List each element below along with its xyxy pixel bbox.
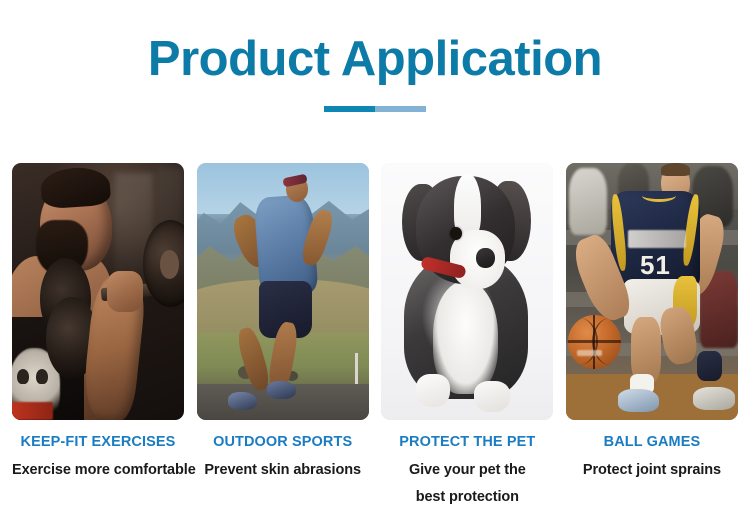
opponent-knee-pad	[697, 351, 723, 382]
player-shoe	[618, 389, 659, 412]
runner-front-shoe	[267, 381, 296, 399]
outdoor-sports-photo[interactable]	[197, 163, 369, 420]
road-post	[355, 353, 358, 386]
jersey-neck-trim	[642, 189, 676, 202]
weight-plate-hole	[160, 250, 179, 278]
skull-eye-left	[17, 369, 29, 384]
title-divider	[324, 106, 426, 112]
application-cards-row: KEEP-FIT EXERCISES Exercise more comfort…	[12, 163, 738, 511]
basketball	[568, 315, 621, 369]
protect-the-pet-caption: PROTECT THE PET Give your pet the best p…	[381, 420, 553, 511]
jersey-team-name	[628, 230, 686, 248]
ball-games-photo[interactable]: 51	[566, 163, 738, 420]
protect-the-pet-photo[interactable]	[381, 163, 553, 420]
card-subtitle: Give your pet the best protection	[392, 457, 542, 511]
card-title: BALL GAMES	[566, 434, 738, 451]
card-subtitle: Exercise more comfortable	[12, 457, 184, 484]
puppy-nose	[476, 248, 495, 269]
opponent-shoe	[693, 387, 734, 410]
puppy-paw-right	[474, 381, 510, 412]
divider-segment-light	[375, 106, 426, 112]
outdoor-sports-caption: OUTDOOR SPORTS Prevent skin abrasions	[197, 420, 369, 484]
card-subtitle: Prevent skin abrasions	[197, 457, 369, 484]
athlete-hair	[40, 166, 111, 209]
ball-games-caption: BALL GAMES Protect joint sprains	[566, 420, 738, 484]
card-subtitle: Protect joint sprains	[566, 457, 738, 484]
puppy-paw-left	[416, 374, 450, 407]
gym-scene-background	[12, 163, 184, 420]
puppy-scene-background	[381, 163, 553, 420]
card-ball-games[interactable]: 51	[566, 163, 738, 511]
page-header: Product Application	[0, 0, 750, 112]
basketball-brand-mark	[577, 350, 602, 355]
runner-back-shoe	[228, 392, 257, 410]
card-title: OUTDOOR SPORTS	[197, 434, 369, 451]
spectator-left	[569, 168, 607, 235]
divider-segment-dark	[324, 106, 375, 112]
player-hair	[661, 163, 690, 176]
keep-fit-exercises-photo[interactable]	[12, 163, 184, 420]
page-title: Product Application	[0, 34, 750, 85]
card-title: KEEP-FIT EXERCISES	[12, 434, 184, 451]
card-outdoor-sports[interactable]: OUTDOOR SPORTS Prevent skin abrasions	[197, 163, 369, 511]
basketball-seam-curve-right	[592, 318, 621, 365]
basketball-court-scene-background: 51	[566, 163, 738, 420]
card-keep-fit-exercises[interactable]: KEEP-FIT EXERCISES Exercise more comfort…	[12, 163, 184, 511]
athlete-hand-grip	[107, 271, 143, 312]
skull-eye-right	[36, 369, 48, 384]
shirt-red-text	[12, 402, 53, 420]
product-application-page: Product Application	[0, 0, 750, 518]
desert-road-scene-background	[197, 163, 369, 420]
card-title: PROTECT THE PET	[381, 434, 553, 451]
card-protect-the-pet[interactable]: PROTECT THE PET Give your pet the best p…	[381, 163, 553, 511]
keep-fit-exercises-caption: KEEP-FIT EXERCISES Exercise more comfort…	[12, 420, 184, 484]
